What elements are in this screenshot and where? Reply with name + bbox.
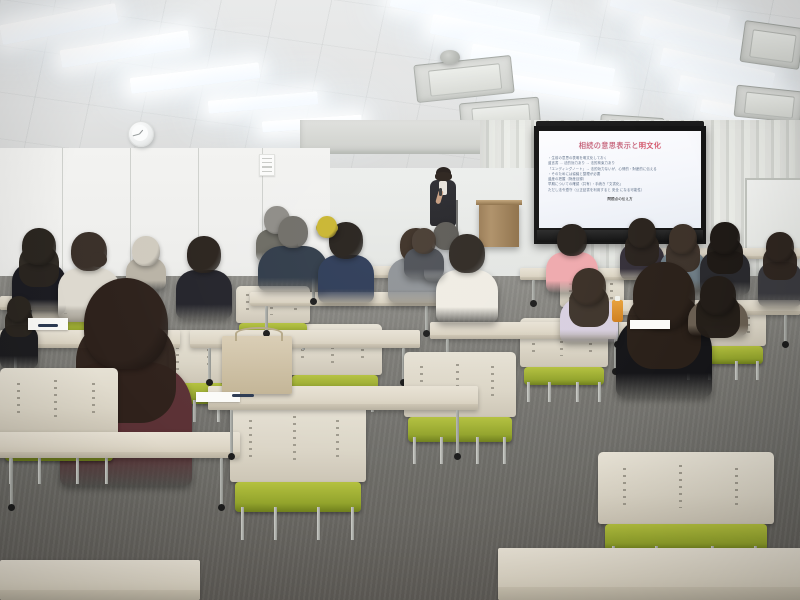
desk-leg	[784, 315, 787, 344]
person-head	[572, 268, 606, 305]
slide-footer: 問題点の伝え方	[539, 197, 701, 202]
slide-bullet: ただし法令遵守（公正証書を利用すると 安全 になる可能性）	[548, 188, 694, 193]
attendee-left-edge-low	[0, 296, 38, 366]
desk-caster	[454, 453, 461, 460]
chair-back	[230, 402, 366, 482]
person-head	[766, 232, 794, 262]
chair-front-center	[230, 402, 366, 540]
pen-left-desk	[38, 324, 58, 327]
person-torso	[318, 255, 374, 303]
slide-bullet-list: ・生前の意思の表明を明文化しておく遺言書 … 法的効力あり → 法的拘束力あり「…	[548, 156, 694, 193]
desk-foreground-right	[498, 548, 800, 600]
presenter-figure	[428, 168, 458, 226]
person-head	[628, 218, 656, 248]
desk-caster	[228, 453, 235, 460]
person-head	[710, 222, 740, 254]
person-hair-bun	[90, 252, 107, 267]
person-head	[132, 236, 160, 266]
desk-leg	[456, 410, 459, 456]
person-head	[317, 216, 337, 238]
handheld-microphone-icon	[439, 188, 442, 196]
desk-foreground-left	[0, 560, 200, 600]
desk-caster	[310, 298, 317, 305]
attendee-right-low	[688, 276, 748, 334]
wall-clock-icon	[128, 121, 154, 147]
desk-leg	[10, 458, 13, 507]
person-head	[669, 224, 697, 254]
desk-leg	[230, 410, 233, 456]
lecture-hall-photo: 相続の意思表示と明文化 ・生前の意思の表明を明文化しておく遺言書 … 法的効力あ…	[0, 0, 800, 600]
desk-caster	[530, 300, 537, 307]
person-head	[449, 234, 485, 273]
attendee-right-edge	[758, 232, 800, 304]
drink-bottle	[612, 300, 623, 322]
person-head	[633, 262, 695, 329]
person-head	[557, 224, 587, 256]
attendee-white-shirt-man	[436, 234, 498, 320]
attendee-yellow-cap	[316, 216, 338, 232]
ceiling-ac-vent	[739, 20, 800, 70]
person-head	[187, 236, 221, 273]
chair-frame	[525, 382, 602, 402]
paper-shopping-bag	[222, 336, 292, 394]
slide-title: 相続の意思表示と明文化	[539, 141, 701, 151]
person-head	[700, 276, 736, 315]
pen-on-desk	[232, 394, 254, 397]
desk-caster	[423, 330, 430, 337]
wall-notice-paper	[259, 154, 275, 176]
desk-leg	[425, 306, 428, 333]
person-head	[412, 228, 436, 254]
desk-leg	[208, 348, 211, 382]
ceiling-speaker-icon	[440, 50, 460, 64]
person-head	[22, 228, 56, 265]
chair-back	[0, 368, 118, 435]
presentation-slide: 相続の意思表示と明文化 ・生前の意思の表明を明文化しておく遺言書 … 法的効力あ…	[539, 131, 701, 228]
handout-paper-right	[630, 320, 670, 329]
person-torso	[436, 270, 498, 323]
desk-leg	[220, 458, 223, 507]
desk-caster	[782, 341, 789, 348]
attendee-center-far	[404, 228, 444, 276]
chair-back	[598, 452, 774, 524]
person-head	[84, 278, 168, 369]
chair-frame	[411, 437, 510, 464]
chair-frame	[7, 456, 111, 484]
person-head	[278, 216, 308, 248]
chair-front-left	[0, 368, 118, 484]
desk-front-left	[0, 432, 240, 458]
chair-frame	[238, 507, 358, 540]
attendee-lavender-sleeve	[560, 268, 618, 340]
